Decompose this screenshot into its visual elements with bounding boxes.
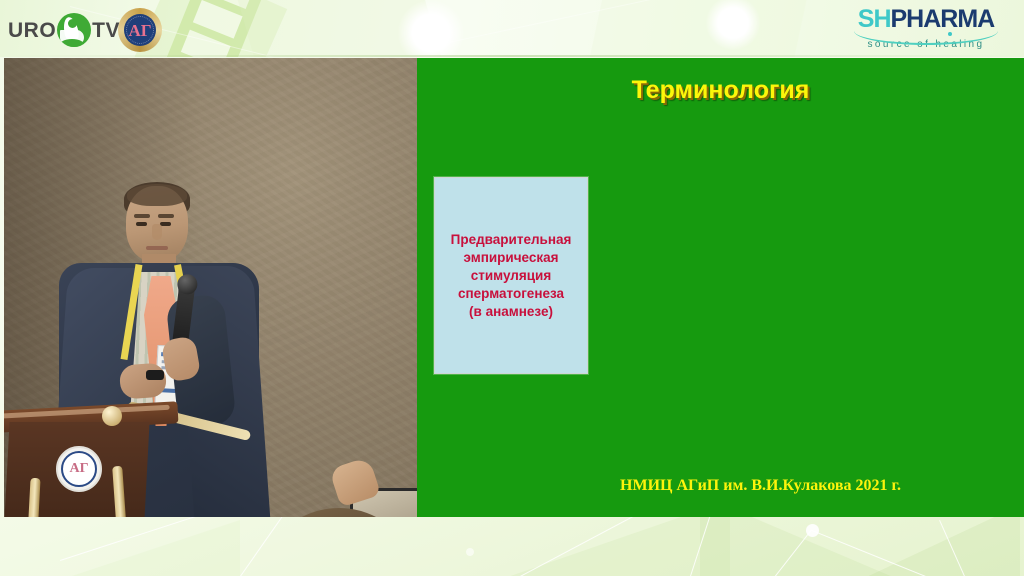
slide-footer-attribution: НМИЦ АГиП им. В.И.Кулакова 2021 г. — [417, 477, 1024, 495]
urotv-circle-icon — [57, 13, 91, 47]
presentation-slide[interactable]: Терминология Предварительная эмпирическа… — [417, 58, 1024, 517]
box-line-4: сперматогенеза — [458, 286, 564, 301]
speaker-video-panel[interactable]: АГ — [4, 58, 417, 517]
terminology-text-box[interactable]: Предварительная эмпирическая стимуляция … — [434, 177, 588, 374]
box-line-2: эмпирическая — [463, 250, 558, 265]
speaker-hand-with-clicker — [119, 362, 167, 399]
shpharma-logo[interactable]: SHPHARMA source of healing — [852, 7, 1000, 49]
box-line-5: (в анамнезе) — [469, 304, 553, 319]
urotv-logo-pre-text: URO — [8, 20, 56, 41]
urotv-logo[interactable]: URO TV — [8, 12, 116, 48]
shpharma-pharma-text: PHARMA — [891, 5, 995, 33]
header-divider — [0, 55, 1024, 57]
institute-seal-icon[interactable]: АГ — [118, 8, 162, 52]
page-header: URO TV АГ SHPHARMA source of healing — [0, 0, 1024, 57]
presentation-clicker — [146, 370, 164, 380]
shpharma-sh-text: SH — [858, 5, 891, 33]
urotv-logo-post-text: TV — [92, 20, 120, 41]
shpharma-swoosh-icon — [852, 30, 1000, 38]
box-line-1: Предварительная — [451, 232, 572, 247]
podium-seal-icon: АГ — [56, 446, 102, 492]
slide-title: Терминология — [417, 76, 1024, 105]
terminology-text-box-label: Предварительная эмпирическая стимуляция … — [447, 231, 576, 321]
box-line-3: стимуляция — [471, 268, 552, 283]
